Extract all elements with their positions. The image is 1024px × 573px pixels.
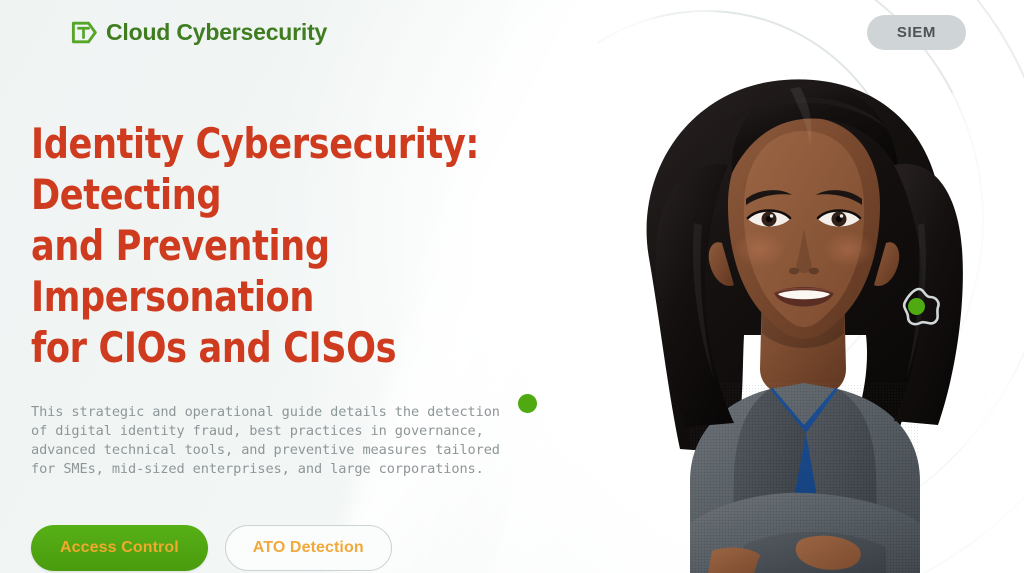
status-badge[interactable]: SIEM xyxy=(867,15,966,50)
green-dot-icon xyxy=(908,298,925,315)
access-control-button[interactable]: Access Control xyxy=(31,525,208,571)
hero-subtitle: This strategic and operational guide det… xyxy=(31,403,576,479)
shield-arrow-icon xyxy=(70,19,97,46)
brand-name: Cloud Cybersecurity xyxy=(106,19,327,46)
portrait-photo xyxy=(594,53,1024,573)
brand-logo[interactable]: Cloud Cybersecurity xyxy=(70,19,327,46)
green-dot-icon xyxy=(518,394,537,413)
cta-row: Access Control ATO Detection xyxy=(31,525,651,571)
ato-detection-button[interactable]: ATO Detection xyxy=(225,525,392,571)
top-bar: Cloud Cybersecurity SIEM xyxy=(0,0,1024,64)
hero-slide: Cloud Cybersecurity SIEM Identity Cybers… xyxy=(0,0,1024,573)
hero-content: Identity Cybersecurity: Detecting and Pr… xyxy=(31,118,651,571)
page-title: Identity Cybersecurity: Detecting and Pr… xyxy=(31,118,608,373)
star-blob-icon xyxy=(900,285,944,329)
